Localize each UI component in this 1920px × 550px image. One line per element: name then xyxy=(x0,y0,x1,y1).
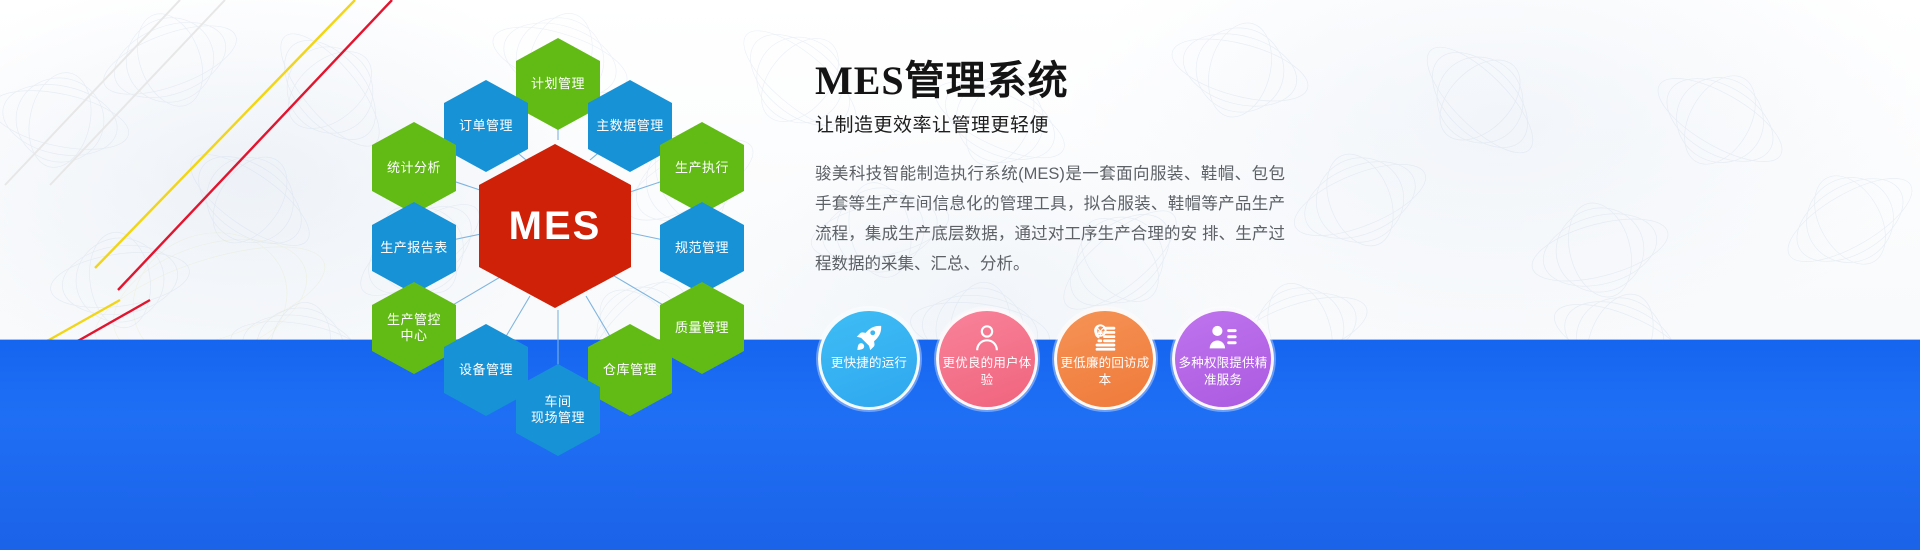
feature-badge-label: 更低廉的回访成本 xyxy=(1058,355,1152,389)
hex-node-label: 订单管理 xyxy=(459,118,513,134)
money-icon xyxy=(1090,323,1120,353)
info-column: MES管理系统 让制造更效率让管理更轻便 骏美科技智能制造执行系统(MES)是一… xyxy=(815,58,1285,279)
hex-node-label: 质量管理 xyxy=(675,320,729,336)
page-subtitle: 让制造更效率让管理更轻便 xyxy=(815,110,1285,137)
hex-node-label: 生产管控 中心 xyxy=(387,312,441,345)
mes-banner: MES 计划管理订单管理主数据管理统计分析生产执行生产报告表规范管理生产管控 中… xyxy=(0,0,1920,550)
hex-node-label: 车间 现场管理 xyxy=(531,394,585,427)
hex-node-core-label: MES xyxy=(509,201,602,251)
feature-badge-label: 多种权限提供精准服务 xyxy=(1176,355,1270,389)
hex-node-label: 仓库管理 xyxy=(603,362,657,378)
hex-node-label: 生产执行 xyxy=(675,160,729,176)
page-title: MES管理系统 xyxy=(815,58,1285,104)
feature-badge-label: 更快捷的运行 xyxy=(822,355,916,372)
hex-node-label: 生产报告表 xyxy=(380,240,448,256)
feature-badge[interactable]: 更优良的用户体验 xyxy=(936,308,1038,410)
mes-hex-diagram: MES 计划管理订单管理主数据管理统计分析生产执行生产报告表规范管理生产管控 中… xyxy=(340,20,770,430)
feature-badge-list: 更快捷的运行更优良的用户体验更低廉的回访成本多种权限提供精准服务 xyxy=(818,308,1274,410)
hex-node-label: 规范管理 xyxy=(675,240,729,256)
user-list-icon xyxy=(1208,323,1238,353)
rocket-icon xyxy=(854,323,884,353)
hex-node-label: 统计分析 xyxy=(387,160,441,176)
hex-node-label: 设备管理 xyxy=(459,362,513,378)
feature-badge[interactable]: 更快捷的运行 xyxy=(818,308,920,410)
description-paragraph: 骏美科技智能制造执行系统(MES)是一套面向服装、鞋帽、包包手套等生产车间信息化… xyxy=(815,159,1285,279)
hex-node-label: 主数据管理 xyxy=(596,118,664,134)
hex-node-label: 计划管理 xyxy=(531,76,585,92)
feature-badge[interactable]: 多种权限提供精准服务 xyxy=(1172,308,1274,410)
feature-badge-label: 更优良的用户体验 xyxy=(940,355,1034,389)
user-icon xyxy=(972,323,1002,353)
feature-badge[interactable]: 更低廉的回访成本 xyxy=(1054,308,1156,410)
